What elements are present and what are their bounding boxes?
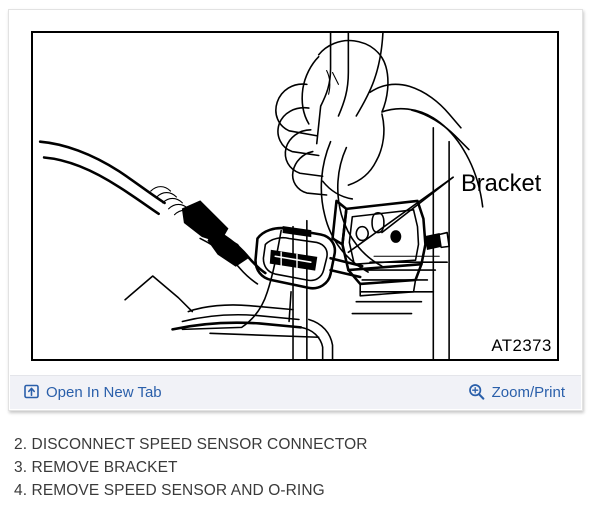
step-item: 4. REMOVE SPEED SENSOR AND O-RING: [14, 479, 574, 502]
procedure-steps: 2. DISCONNECT SPEED SENSOR CONNECTOR 3. …: [14, 433, 574, 502]
external-link-icon: [24, 384, 39, 402]
step-item: 3. REMOVE BRACKET: [14, 456, 574, 479]
lower-contour: [125, 276, 332, 359]
sensor-cable: [40, 142, 265, 284]
zoom-print-label: Zoom/Print: [492, 385, 565, 400]
image-toolbar: Open In New Tab Zoom/Print: [10, 375, 581, 409]
image-card: Bracket AT2373 Open In New Tab: [8, 9, 583, 411]
step-item: 2. DISCONNECT SPEED SENSOR CONNECTOR: [14, 433, 574, 456]
bracket-callout: Bracket: [348, 171, 541, 252]
callout-label: Bracket: [461, 171, 542, 197]
figure-code: AT2373: [491, 336, 552, 355]
open-in-new-tab-label: Open In New Tab: [46, 385, 162, 400]
hand-illustration: [276, 41, 483, 207]
diagram-figure[interactable]: Bracket AT2373: [31, 31, 559, 361]
technical-diagram: Bracket AT2373: [33, 33, 557, 359]
open-in-new-tab-button[interactable]: Open In New Tab: [24, 384, 162, 402]
zoom-print-button[interactable]: Zoom/Print: [468, 383, 565, 403]
bracket-part: [333, 201, 450, 296]
magnifier-plus-icon: [468, 383, 485, 403]
